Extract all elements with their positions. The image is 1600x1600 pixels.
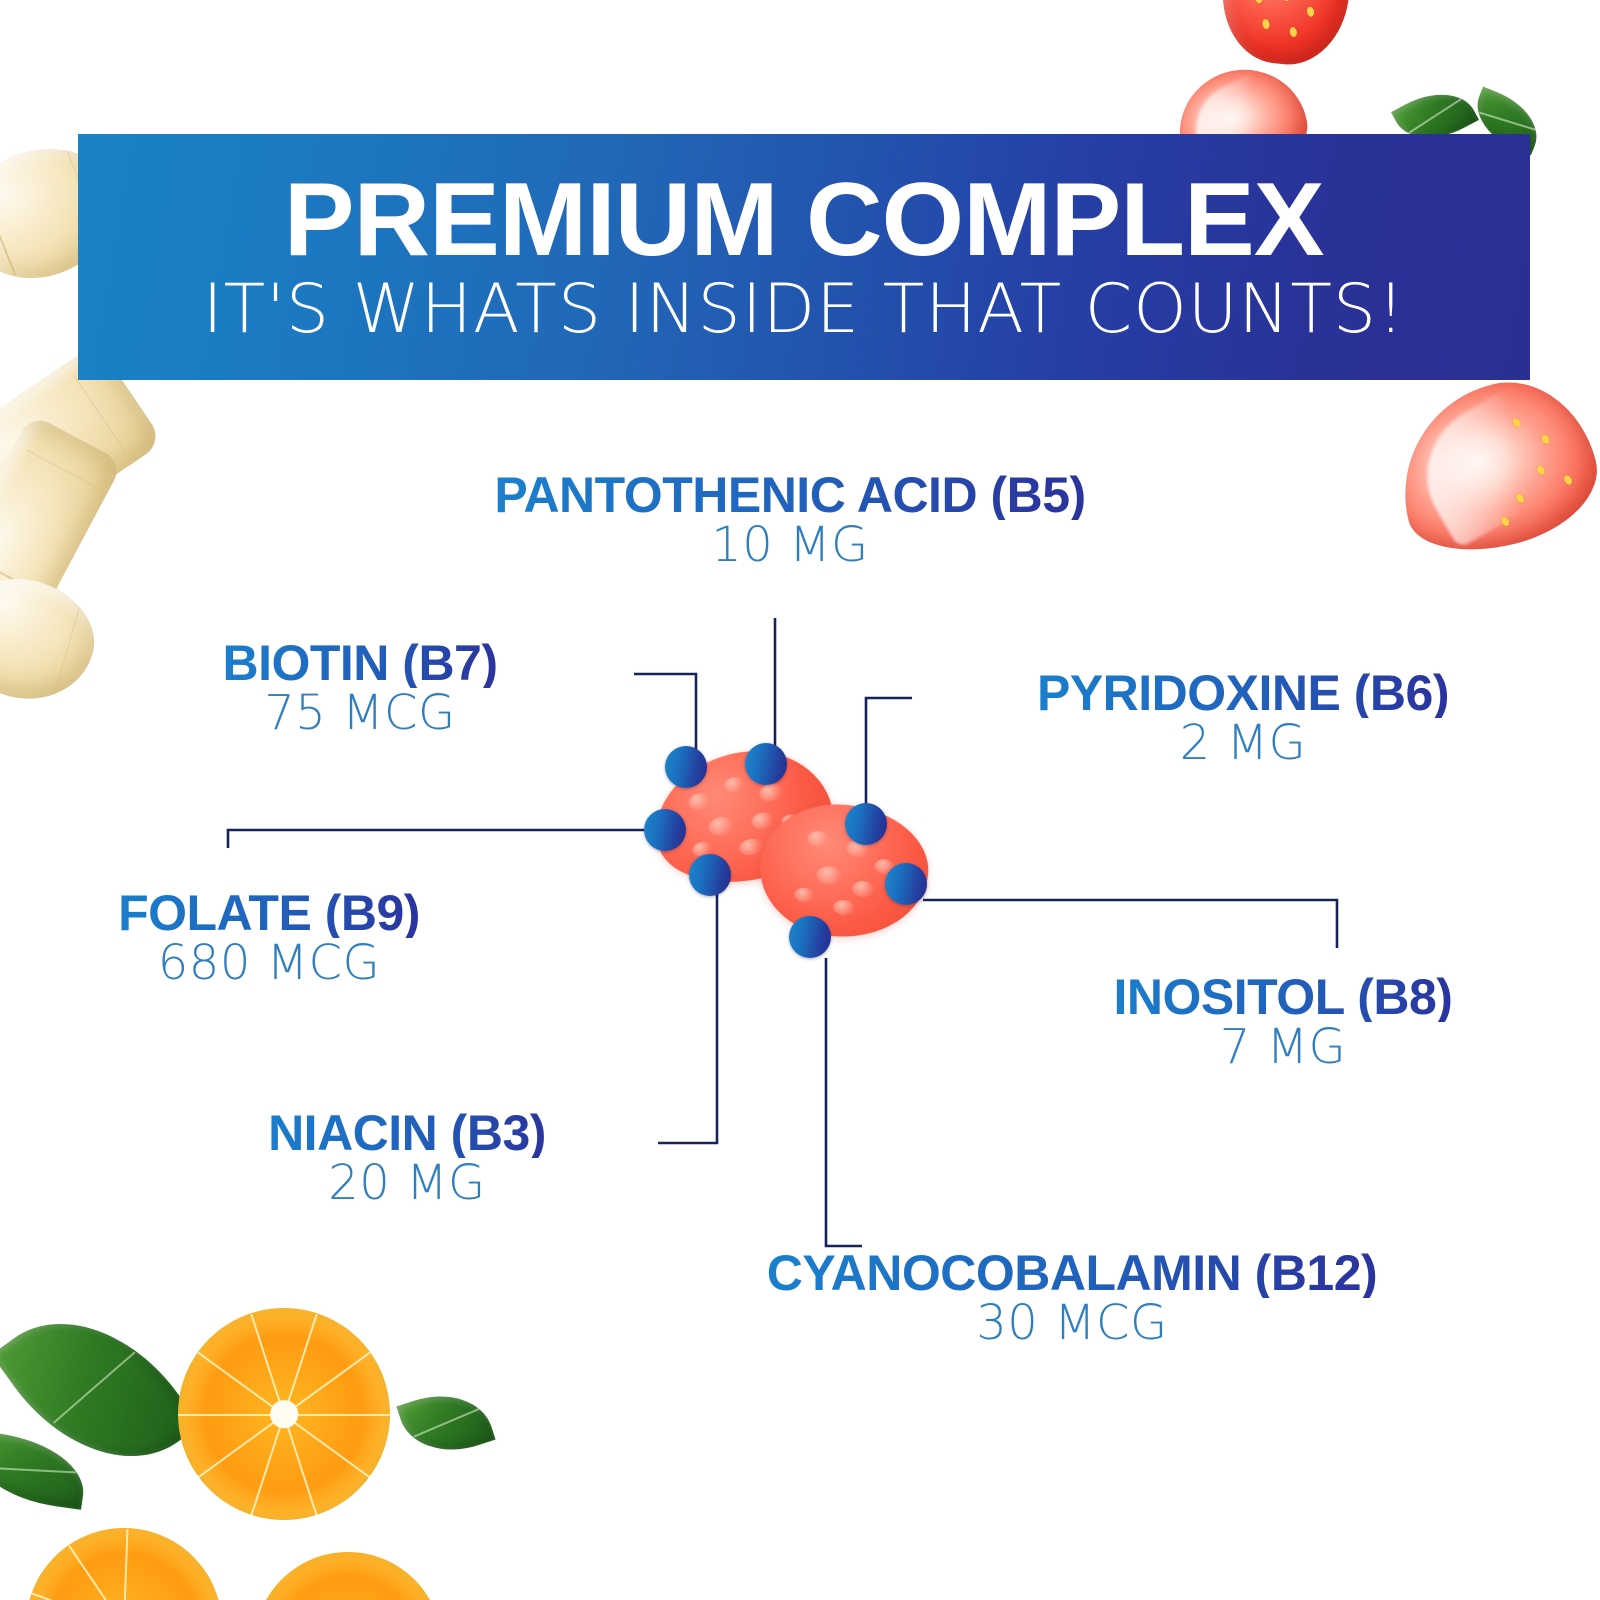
connector-b8 — [923, 900, 1337, 948]
nutrient-amount: 680 MCG — [24, 938, 514, 990]
nutrient-amount: 75 MCG — [140, 688, 580, 740]
connector-b9 — [228, 830, 668, 848]
infographic-canvas: PREMIUM COMPLEX IT'S WHATS INSIDE THAT C… — [0, 0, 1600, 1600]
nutrient-amount: 2 MG — [918, 718, 1568, 770]
nutrient-name: PYRIDOXINE (B6) — [918, 668, 1568, 718]
nutrient-name: FOLATE (B9) — [24, 888, 514, 938]
connector-dot-b8 — [885, 863, 927, 905]
connector-dot-b12 — [789, 916, 831, 958]
nutrient-name: BIOTIN (B7) — [140, 638, 580, 688]
nutrient-label-b8: INOSITOL (B8) 7 MG — [1000, 972, 1566, 1074]
nutrient-label-b5: PANTOTHENIC ACID (B5) 10 MG — [340, 470, 1240, 572]
nutrient-label-b12: CYANOCOBALAMIN (B12) 30 MCG — [612, 1248, 1532, 1350]
nutrient-name: CYANOCOBALAMIN (B12) — [612, 1248, 1532, 1298]
nutrient-label-b6: PYRIDOXINE (B6) 2 MG — [918, 668, 1568, 770]
nutrient-name: PANTOTHENIC ACID (B5) — [340, 470, 1240, 520]
connector-dot-b6 — [845, 803, 887, 845]
connector-dot-b5 — [745, 743, 787, 785]
nutrient-amount: 10 MG — [340, 520, 1240, 572]
connector-b12 — [826, 958, 862, 1246]
nutrient-name: NIACIN (B3) — [172, 1108, 642, 1158]
nutrient-name: INOSITOL (B8) — [1000, 972, 1566, 1022]
connector-dot-b7 — [665, 746, 707, 788]
nutrient-label-b3: NIACIN (B3) 20 MG — [172, 1108, 642, 1210]
nutrient-amount: 7 MG — [1000, 1022, 1566, 1074]
connector-dot-b3 — [689, 854, 731, 896]
nutrient-label-b9: FOLATE (B9) 680 MCG — [24, 888, 514, 990]
nutrient-amount: 30 MCG — [612, 1298, 1532, 1350]
nutrient-label-b7: BIOTIN (B7) 75 MCG — [140, 638, 580, 740]
connector-dot-b9 — [644, 809, 686, 851]
nutrient-amount: 20 MG — [172, 1158, 642, 1210]
